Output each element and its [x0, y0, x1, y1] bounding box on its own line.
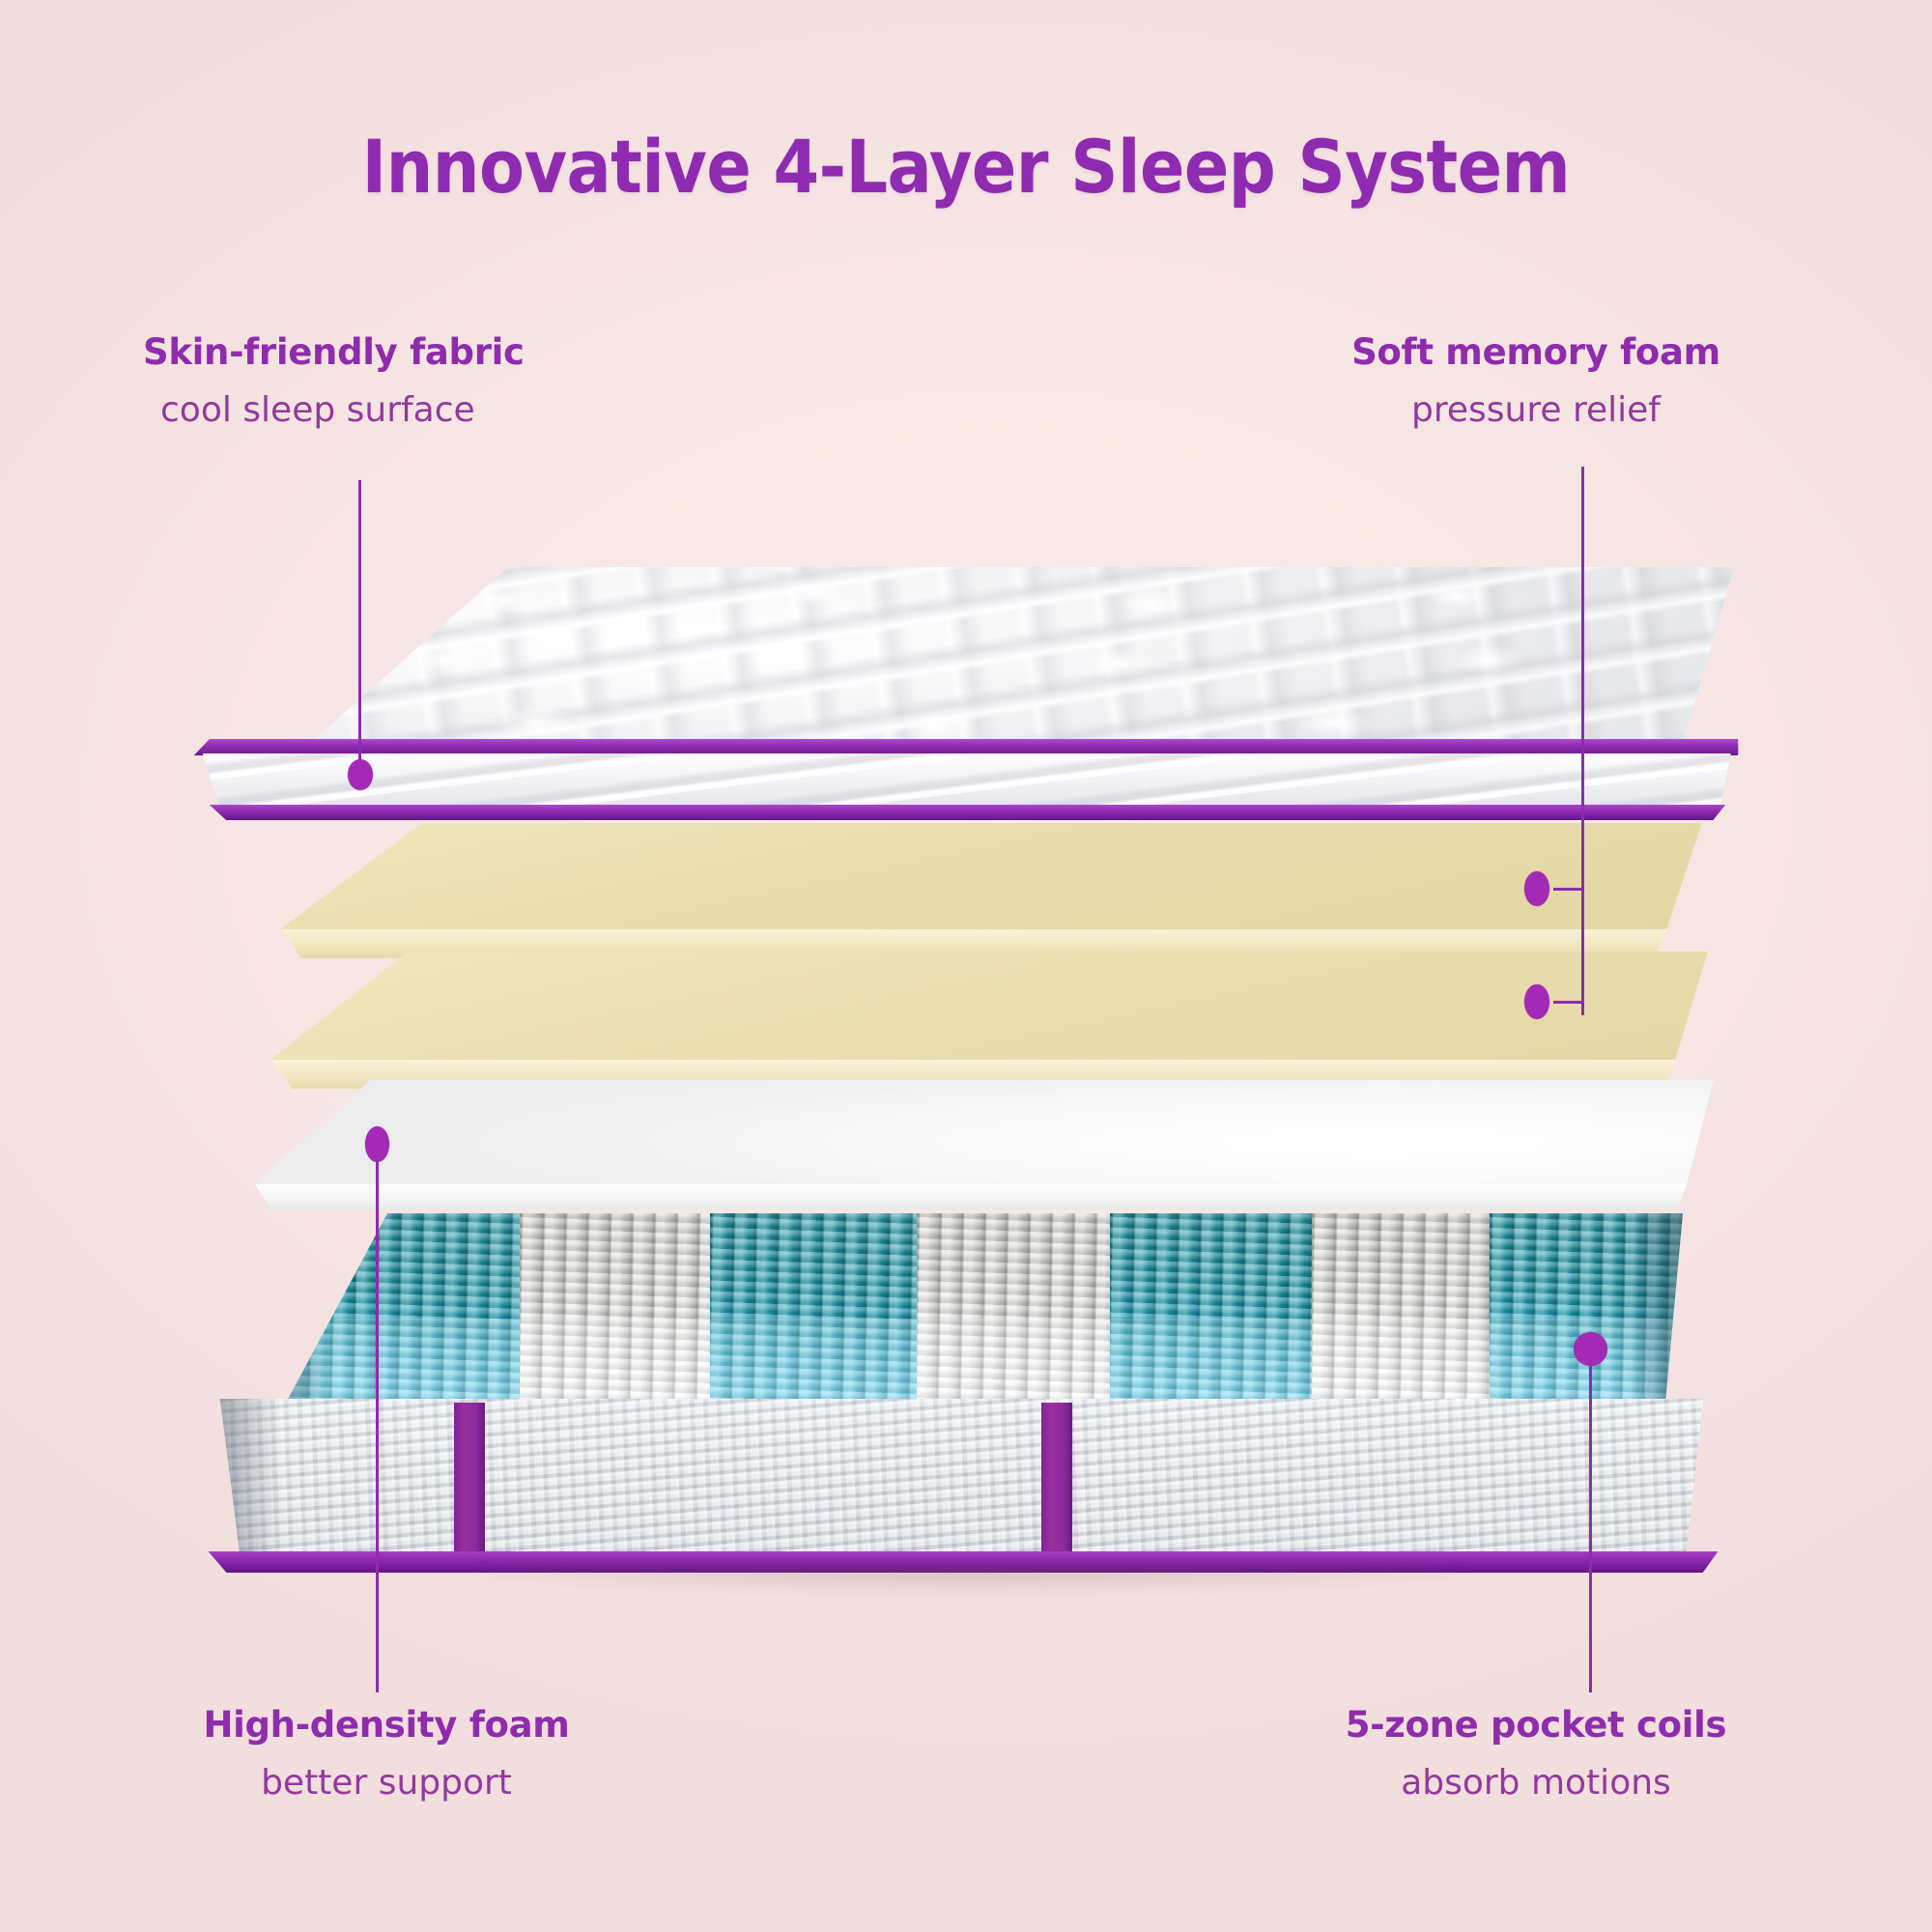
- leader-tick-memory-foam-lower: [1553, 1001, 1584, 1004]
- memory-foam-upper-top-face: [224, 823, 1702, 929]
- callout-soft-memory-foam: Soft memory foam pressure relief: [1285, 332, 1787, 431]
- callout-subtitle: better support: [135, 1762, 638, 1804]
- coil-texture: [1312, 1213, 1493, 1402]
- memory-foam-lower-top-face: [220, 952, 1708, 1060]
- callout-skin-friendly-fabric: Skin-friendly fabric cool sleep surface: [143, 332, 645, 431]
- layer-border-fabric-base: [205, 1399, 1721, 1565]
- cover-piping-upper: [185, 739, 1747, 755]
- floor-shadow: [232, 1565, 1710, 1633]
- coil-texture: [917, 1213, 1113, 1402]
- carry-handle-right: [1041, 1403, 1072, 1561]
- coil-texture: [710, 1213, 921, 1402]
- coil-zone-4: [917, 1213, 1113, 1402]
- base-left-shading: [205, 1399, 281, 1565]
- coil-zone-5: [1110, 1213, 1315, 1402]
- layer-memory-foam-upper: [224, 823, 1702, 929]
- leader-line-pocket-coils: [1589, 1360, 1592, 1692]
- leader-line-high-density-foam: [376, 1159, 379, 1692]
- layer-quilted-cover: [198, 567, 1734, 664]
- leader-dot-skin-friendly-fabric: [348, 759, 373, 790]
- coil-zone-2: [520, 1213, 713, 1402]
- callout-subtitle: pressure relief: [1285, 389, 1787, 431]
- mattress-exploded-diagram: [0, 0, 1932, 1932]
- leader-line-skin-friendly-fabric: [358, 480, 361, 772]
- callout-label: High-density foam: [135, 1705, 638, 1747]
- leader-dot-memory-foam-upper: [1524, 871, 1549, 906]
- cover-piping-lower: [192, 805, 1738, 820]
- leader-line-soft-memory-foam-ext: [1581, 888, 1584, 1015]
- coil-texture: [243, 1213, 523, 1402]
- leader-dot-memory-foam-lower: [1524, 984, 1549, 1019]
- coil-texture: [520, 1213, 713, 1402]
- leader-tick-memory-foam-upper: [1553, 888, 1584, 891]
- layer-pocket-coil-unit: [243, 1213, 1683, 1402]
- callout-pocket-coils: 5-zone pocket coils absorb motions: [1275, 1705, 1797, 1804]
- callout-label: Soft memory foam: [1285, 332, 1787, 374]
- coil-texture: [1110, 1213, 1315, 1402]
- coil-texture: [1490, 1213, 1686, 1402]
- callout-high-density-foam: High-density foam better support: [135, 1705, 638, 1804]
- layer-high-density-foam: [214, 1080, 1714, 1184]
- callout-label: 5-zone pocket coils: [1275, 1705, 1797, 1747]
- coil-zone-6: [1312, 1213, 1493, 1402]
- high-density-foam-top-face: [214, 1080, 1714, 1184]
- callout-label: Skin-friendly fabric: [143, 332, 645, 374]
- high-density-foam-front-face: [214, 1184, 1714, 1209]
- layer-memory-foam-lower: [220, 952, 1708, 1060]
- coil-zone-7: [1490, 1213, 1686, 1402]
- coil-zone-1: [243, 1213, 523, 1402]
- leader-dot-high-density-foam: [365, 1126, 389, 1162]
- callout-subtitle: absorb motions: [1275, 1762, 1797, 1804]
- infographic-canvas: Innovative 4-Layer Sleep System: [0, 0, 1932, 1932]
- leader-line-soft-memory-foam: [1581, 467, 1584, 890]
- carry-handle-left: [454, 1403, 485, 1561]
- callout-subtitle: cool sleep surface: [143, 389, 645, 431]
- quilt-puff-highlights: [198, 567, 1734, 753]
- cover-side-panel-fabric: [190, 753, 1742, 808]
- coil-zone-3: [710, 1213, 921, 1402]
